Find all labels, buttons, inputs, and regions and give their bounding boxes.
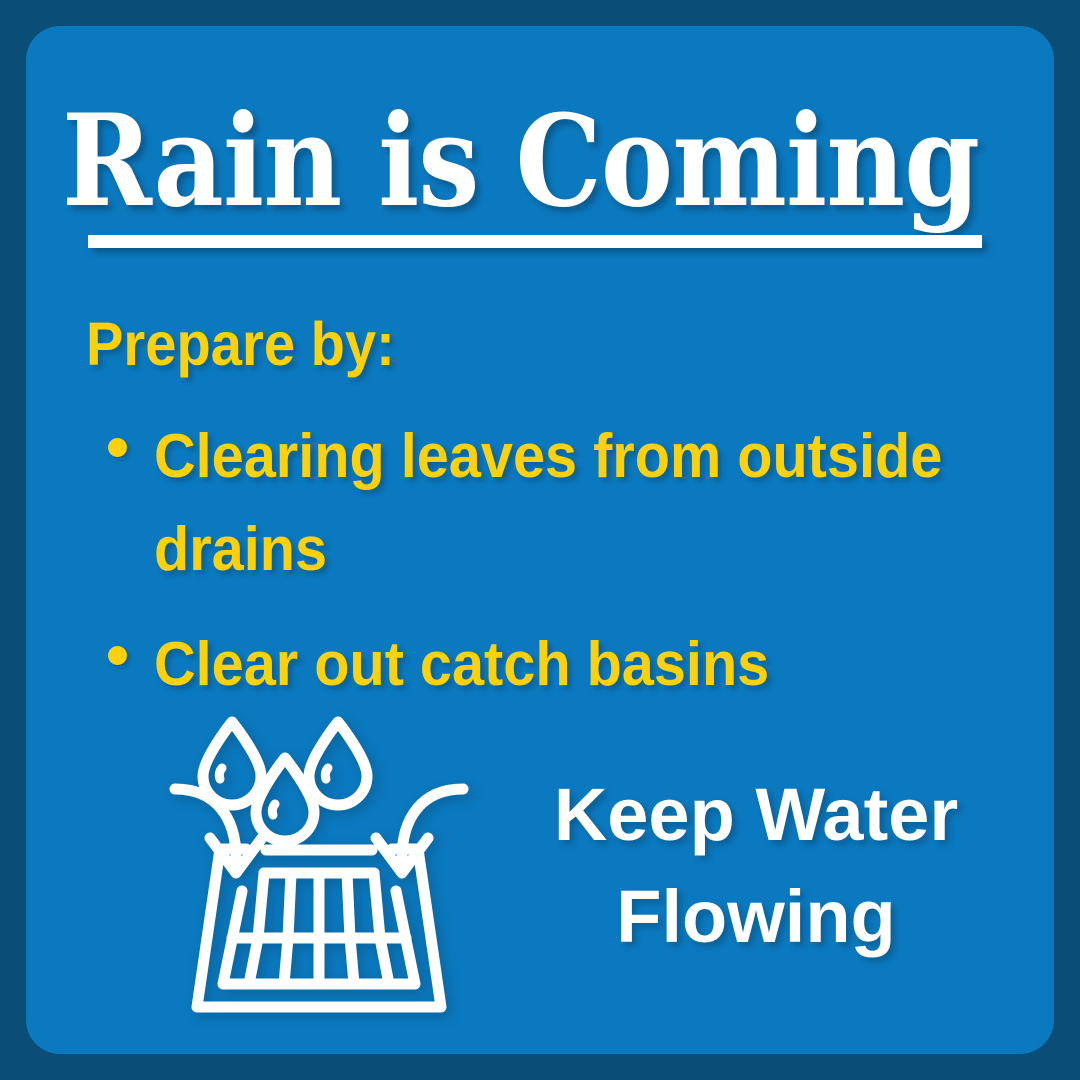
bullet-dot-icon (108, 438, 127, 457)
tagline-line-1: Keep Water (496, 764, 1016, 866)
water-droplet-highlight (219, 768, 222, 779)
grate-bar (258, 873, 264, 938)
preparation-list: Clearing leaves from outside drains Clea… (108, 410, 1038, 733)
headline-underline (88, 235, 982, 248)
water-droplet-highlight (325, 768, 328, 779)
list-item: Clearing leaves from outside drains (108, 410, 1038, 596)
grate-bar (288, 873, 291, 938)
tagline-line-2: Flowing (496, 866, 1016, 968)
grate-bar (347, 873, 350, 938)
storm-drain-grate-icon (154, 706, 484, 1036)
headline-block: Rain is Coming (62, 98, 1022, 224)
tagline: Keep Water Flowing (496, 764, 1016, 968)
grate-bar (284, 938, 288, 984)
bottom-section: Keep Water Flowing (26, 698, 1054, 1038)
bullet-dot-icon (108, 646, 127, 665)
poster-frame: Rain is Coming Prepare by: Clearing leav… (0, 0, 1080, 1080)
subheading: Prepare by: (86, 312, 395, 376)
grate-bar (374, 873, 380, 938)
list-item-label: Clearing leaves from outside drains (154, 410, 976, 596)
grate-bar (249, 938, 258, 984)
water-droplet-highlight (272, 804, 275, 815)
page-title: Rain is Coming (62, 98, 888, 224)
grate-bar (380, 938, 389, 984)
grate-bar (350, 938, 354, 984)
water-droplet-icon (309, 722, 367, 805)
poster-card: Rain is Coming Prepare by: Clearing leav… (26, 26, 1054, 1054)
water-droplet-icon (203, 722, 261, 805)
